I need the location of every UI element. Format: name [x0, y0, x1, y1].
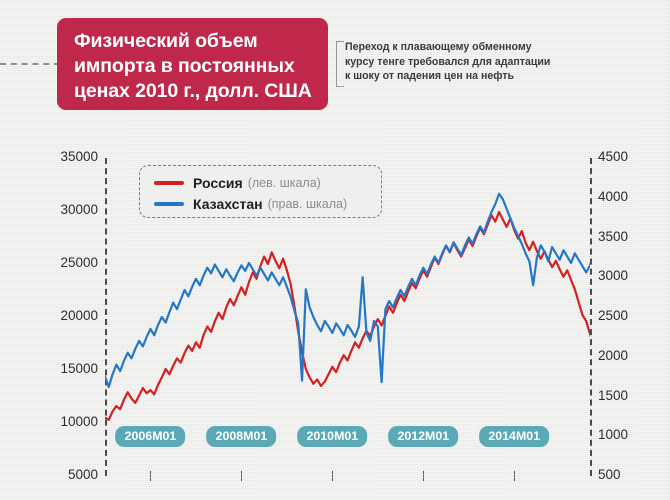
annotation-bracket: [336, 41, 344, 87]
chart-legend: Россия (лев. шкала) Казахстан (прав. шка…: [139, 165, 382, 218]
legend-item-kazakhstan: Казахстан (прав. шкала): [154, 193, 381, 214]
legend-scale-kazakhstan: (прав. шкала): [268, 197, 348, 211]
legend-scale-russia: (лев. шкала): [248, 176, 321, 190]
x-label-2014M01: 2014M01: [479, 426, 549, 447]
annotation-text: Переход к плавающему обменному курсу тен…: [345, 40, 560, 84]
x-label-2008M01: 2008M01: [207, 426, 277, 447]
legend-swatch-kazakhstan: [154, 202, 184, 206]
x-tick-2014M01: [514, 471, 515, 481]
legend-label-kazakhstan: Казахстан: [193, 196, 263, 212]
legend-item-russia: Россия (лев. шкала): [154, 172, 381, 193]
title-banner: Физический объем импорта в постоянных це…: [57, 18, 328, 110]
x-tick-2008M01: [241, 471, 242, 481]
legend-label-russia: Россия: [193, 175, 243, 191]
x-tick-2006M01: [150, 471, 151, 481]
x-tick-2010M01: [332, 471, 333, 481]
legend-swatch-russia: [154, 181, 184, 185]
chart-area: 3500030000250002000015000100005000 45004…: [0, 140, 670, 500]
x-label-2012M01: 2012M01: [388, 426, 458, 447]
page-title: Физический объем импорта в постоянных це…: [74, 29, 314, 104]
x-tick-2012M01: [423, 471, 424, 481]
x-label-2006M01: 2006M01: [116, 426, 186, 447]
x-label-2010M01: 2010M01: [298, 426, 368, 447]
title-connector-line: [0, 63, 60, 65]
